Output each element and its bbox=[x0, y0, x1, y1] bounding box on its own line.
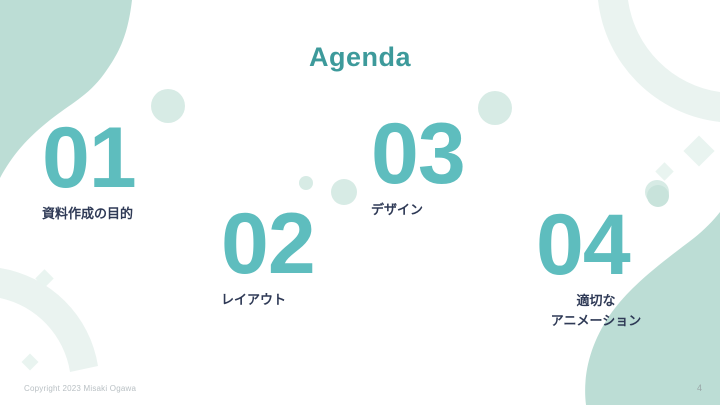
circle-near-03 bbox=[478, 91, 512, 125]
agenda-number-03: 03 bbox=[371, 115, 465, 194]
agenda-label-02: レイアウト bbox=[221, 290, 315, 310]
agenda-item-04[interactable]: 04 適切な アニメーション bbox=[536, 206, 652, 330]
agenda-item-03[interactable]: 03 デザイン bbox=[371, 115, 465, 220]
circle-near-02 bbox=[331, 179, 357, 205]
agenda-number-01: 01 bbox=[42, 119, 136, 198]
circle-near-04 bbox=[645, 180, 669, 204]
footer-copyright: Copyright 2023 Misaki Ogawa bbox=[24, 384, 136, 393]
circle-midfield bbox=[299, 176, 313, 190]
agenda-item-01[interactable]: 01 資料作成の目的 bbox=[42, 119, 136, 224]
diamond-right-large bbox=[683, 135, 714, 166]
agenda-label-04: 適切な アニメーション bbox=[540, 291, 652, 330]
circle-bottom-right-small bbox=[647, 185, 669, 207]
agenda-number-02: 02 bbox=[221, 205, 315, 284]
agenda-label-03: デザイン bbox=[371, 200, 465, 220]
diamond-left-lower bbox=[22, 354, 39, 371]
page-title: Agenda bbox=[0, 44, 720, 71]
diamond-left-upper bbox=[35, 269, 53, 287]
circle-near-01 bbox=[151, 89, 185, 123]
agenda-number-04: 04 bbox=[536, 206, 652, 285]
footer-page-number: 4 bbox=[697, 383, 702, 393]
diamond-right-small bbox=[655, 162, 673, 180]
agenda-item-02[interactable]: 02 レイアウト bbox=[221, 205, 315, 310]
agenda-label-01: 資料作成の目的 bbox=[42, 204, 136, 224]
bottom-left-ring-arc-shape bbox=[0, 268, 98, 372]
slide-canvas: Agenda 01 資料作成の目的 02 レイアウト 03 デザイン 04 適切… bbox=[0, 0, 720, 405]
